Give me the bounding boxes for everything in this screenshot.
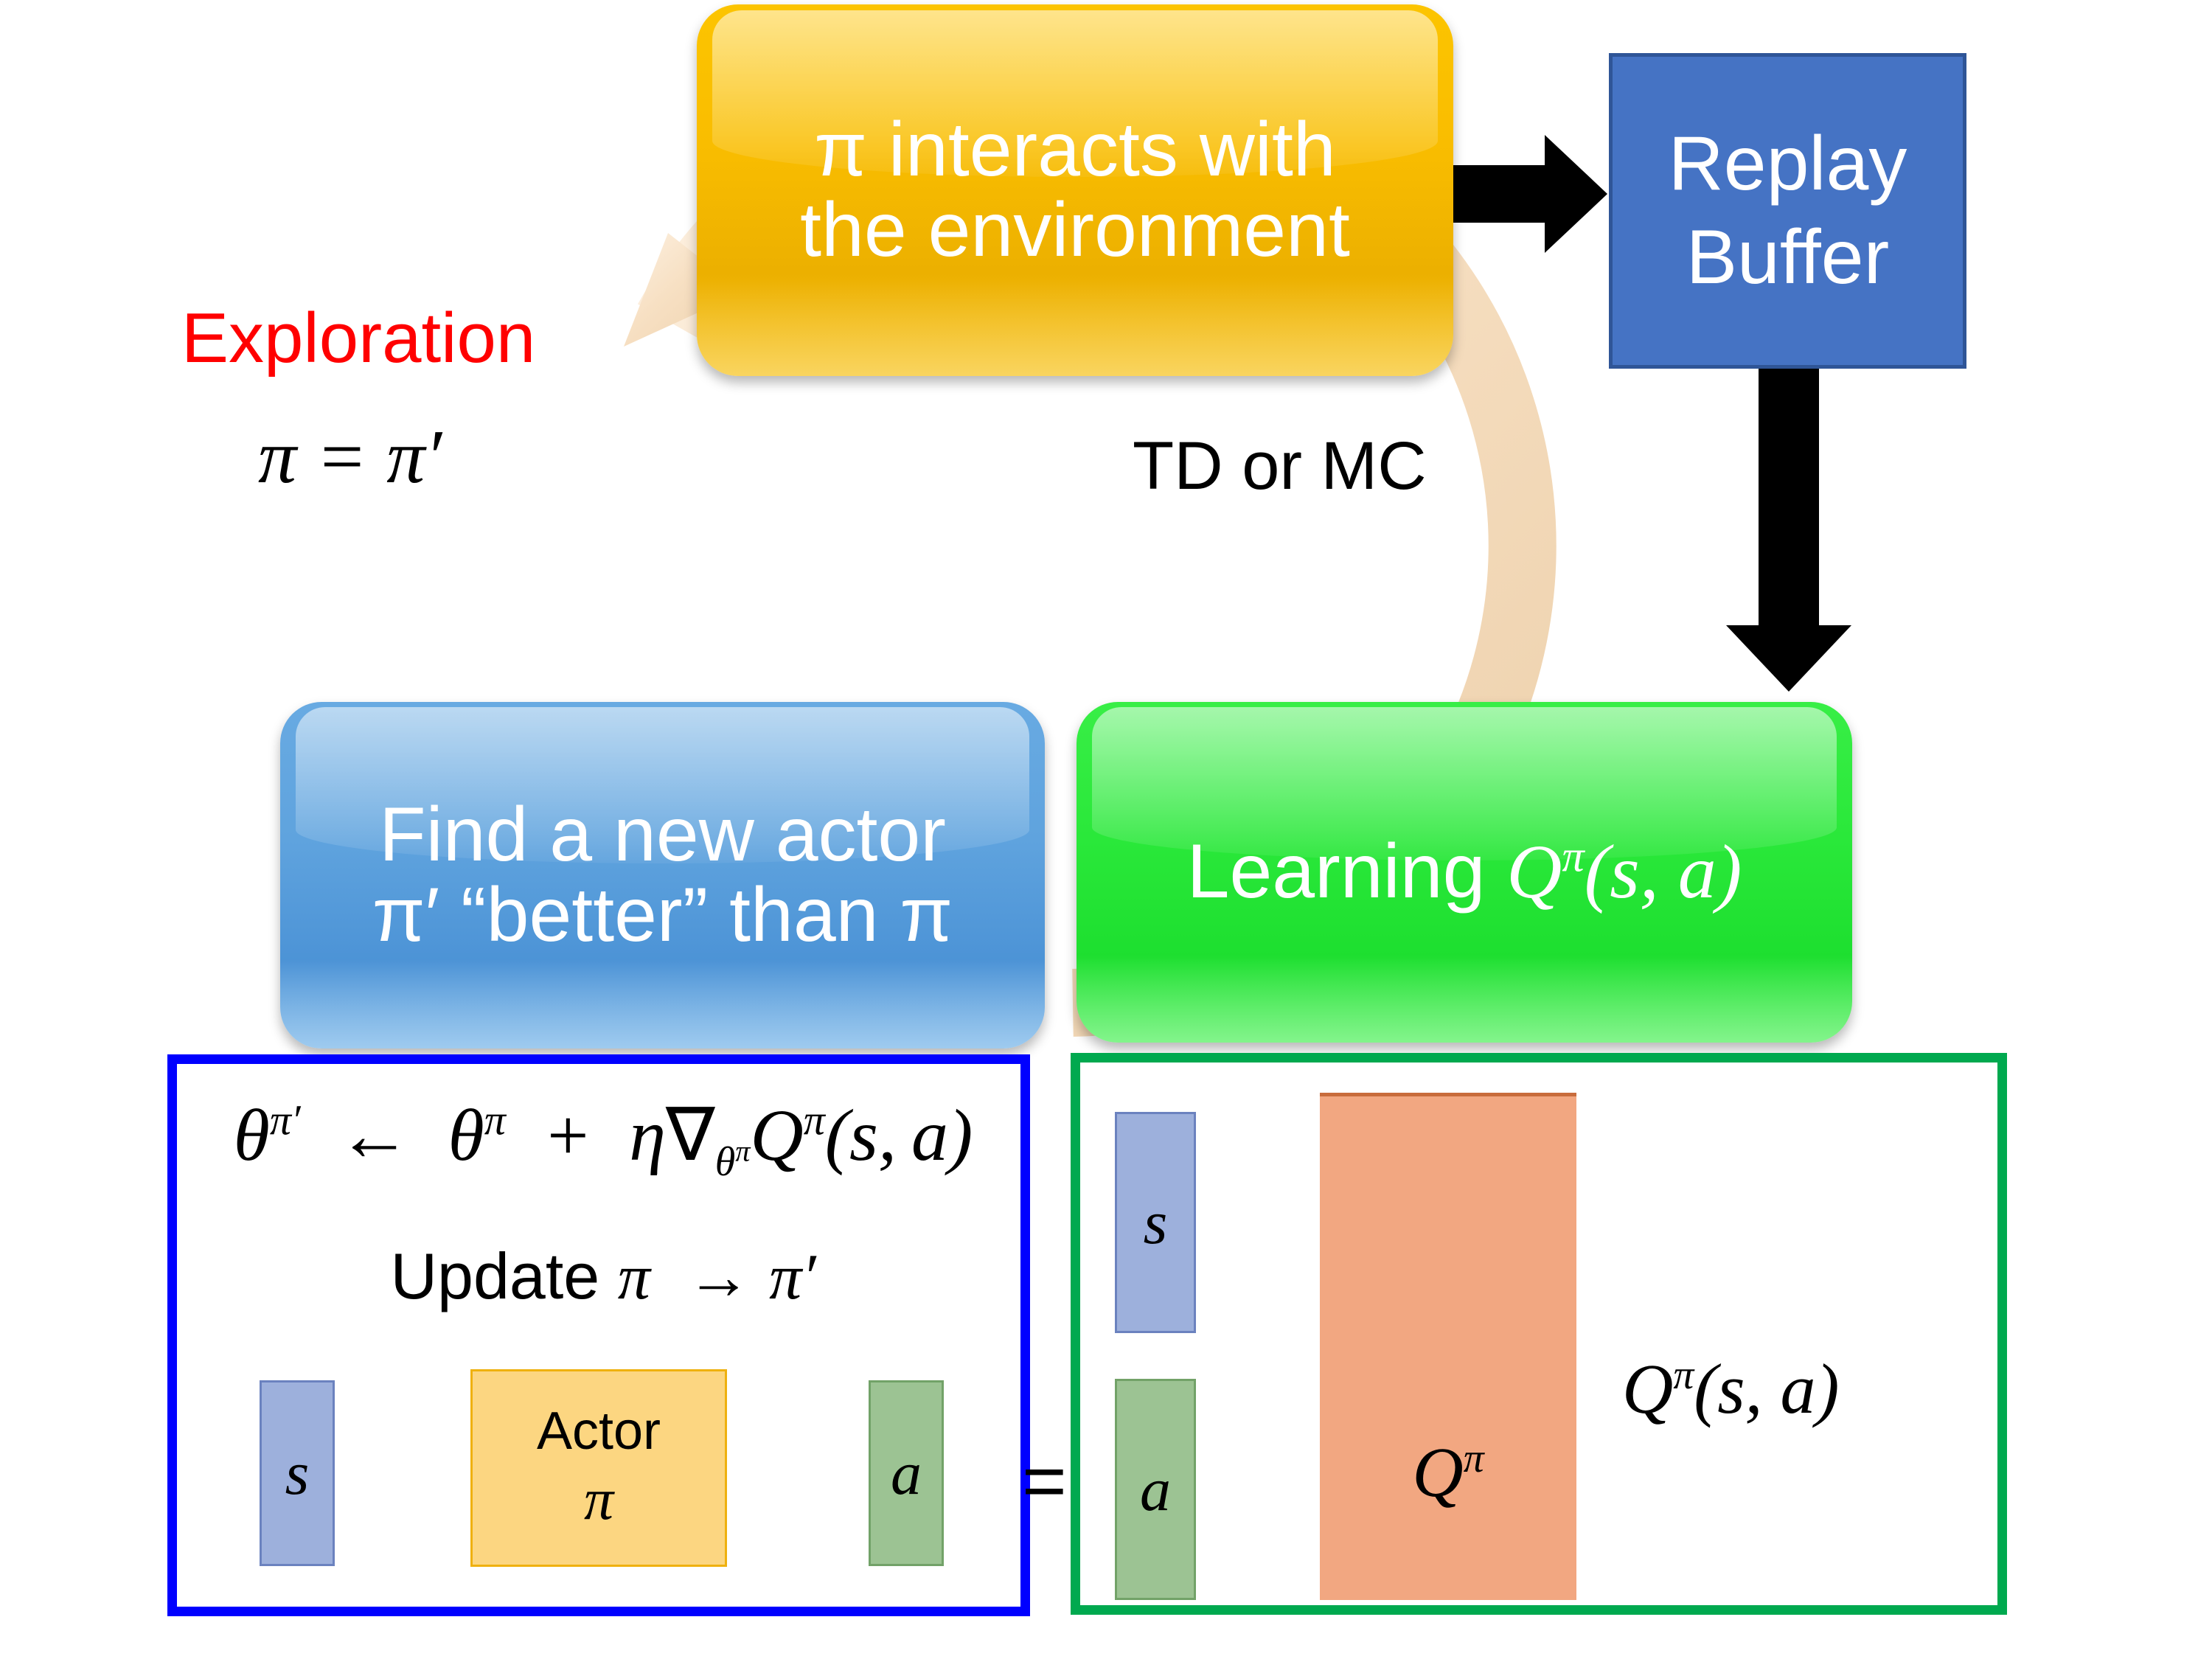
node-environment[interactable]: π interacts with the environment — [697, 4, 1453, 376]
equation-gradient-ascent: θπ′ ← θπ + η∇θπQπ(s, a) — [205, 1091, 1001, 1186]
right-cell-state: s — [1115, 1112, 1196, 1333]
node-replay-buffer[interactable]: Replay Buffer — [1609, 53, 1966, 369]
learning-q-args: (s, a) — [1585, 829, 1742, 914]
caption-update-policy: Update π → π′ — [205, 1239, 1001, 1315]
diagram-canvas: π interacts with the environment Replay … — [0, 0, 2212, 1659]
right-action-label: a — [1140, 1454, 1171, 1526]
left-actor-label: Actor — [537, 1399, 661, 1464]
equals-sign: = — [1022, 1438, 1067, 1526]
right-q-label: Q — [1412, 1433, 1463, 1512]
label-pi-equals-pi-prime: π = π′ — [258, 413, 442, 501]
node-learning-q[interactable]: Learning Qπ(s, a) — [1077, 702, 1852, 1043]
environment-line-1: π interacts with — [814, 107, 1336, 192]
right-cell-q-network: Qπ — [1320, 1093, 1576, 1600]
replay-buffer-line-1: Replay — [1669, 121, 1907, 206]
left-cell-actor: Actor π — [470, 1369, 727, 1567]
label-exploration: Exploration — [181, 298, 535, 379]
environment-line-2: the environment — [800, 187, 1350, 273]
left-action-label: a — [891, 1438, 922, 1509]
output-superscript: π — [1673, 1352, 1694, 1398]
right-state-label: s — [1144, 1187, 1168, 1259]
learning-q-symbol: Q — [1506, 829, 1562, 914]
learning-q-superscript: π — [1562, 832, 1584, 882]
left-cell-action: a — [869, 1380, 944, 1566]
left-actor-pi: π — [584, 1464, 613, 1537]
learning-q-prefix: Learning — [1187, 829, 1507, 914]
left-state-label: s — [285, 1438, 310, 1509]
label-td-or-mc: TD or MC — [1133, 428, 1427, 505]
output-args: (s, a) — [1694, 1349, 1839, 1428]
right-panel-output: Qπ(s, a) — [1622, 1348, 1840, 1430]
find-actor-line-2: π′ “better” than π — [372, 872, 953, 958]
find-actor-line-1: Find a new actor — [379, 792, 946, 877]
node-find-new-actor[interactable]: Find a new actor π′ “better” than π — [280, 702, 1045, 1048]
right-q-superscript: π — [1464, 1436, 1484, 1481]
right-cell-action: a — [1115, 1379, 1196, 1600]
replay-buffer-line-2: Buffer — [1686, 215, 1890, 300]
output-symbol: Q — [1622, 1349, 1673, 1428]
left-cell-state: s — [260, 1380, 335, 1566]
